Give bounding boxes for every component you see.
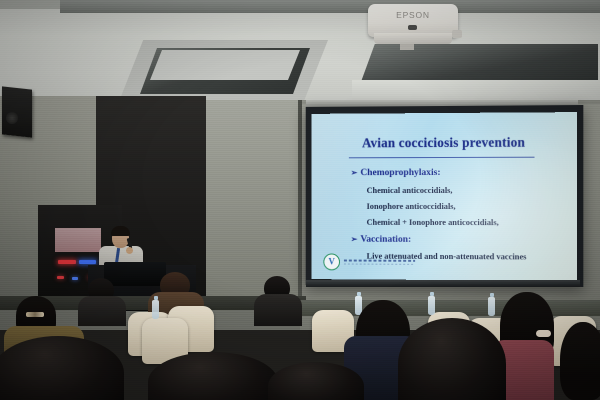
- slide-bullet-heading-2: ➢Vaccination:: [351, 233, 575, 245]
- bullet-arrow-icon: ➢: [351, 168, 358, 177]
- speaker-cone-icon: [6, 112, 18, 124]
- audience-torso: [78, 296, 126, 326]
- projector-mount: [400, 44, 414, 50]
- wall-column-edge: [298, 100, 302, 310]
- foreground-head: [148, 352, 278, 400]
- slide-title-rule: [349, 157, 535, 159]
- foreground-head: [0, 336, 124, 400]
- ceiling-coffer-left-lip: [150, 50, 300, 80]
- bullet-arrow-icon-2: ➢: [351, 234, 358, 243]
- wall-speaker: [2, 86, 32, 137]
- presenter-hand: [126, 247, 133, 254]
- audience-hair-long: [560, 322, 600, 400]
- wall-column: [206, 100, 302, 310]
- slide-bullet-heading-1: ➢Chemoprophylaxis:: [351, 167, 575, 178]
- slide-bullet-heading-2-text: Vaccination:: [360, 233, 411, 244]
- water-bottle[interactable]: [152, 300, 159, 319]
- projector-lens-icon: [408, 25, 417, 30]
- led-indicator-red: [58, 260, 76, 264]
- slide-subitem-1-3: Chemical + Ionophore anticoccidials,: [367, 217, 576, 226]
- slide-subitem-1-2: Ionophore anticoccidials,: [367, 201, 576, 210]
- logo-wordmark: [344, 259, 415, 265]
- water-bottle[interactable]: [488, 297, 495, 316]
- projection-screen: Avian cocciciosis prevention ➢Chemoproph…: [312, 112, 578, 281]
- foreground-head: [398, 318, 506, 400]
- led-indicator-small-red: [57, 276, 64, 279]
- slide-subitem-1-1: Chemical anticoccidials,: [367, 185, 576, 194]
- logo-wordmark-line-1: [344, 259, 415, 262]
- hair-bow-accessory: [536, 330, 551, 337]
- logo-mark-letter: V: [328, 257, 334, 266]
- water-bottle[interactable]: [428, 296, 435, 315]
- audience-torso: [254, 294, 302, 326]
- podium-monitor: [104, 262, 166, 286]
- lecture-room-photo: EPSON Avian cocciciosis prevention ➢Chem…: [0, 0, 600, 400]
- led-indicator-small-blue: [72, 277, 78, 280]
- ceiling-coffer-right-lip: [352, 80, 600, 102]
- logo-wordmark-line-2: [344, 263, 415, 265]
- rack-panel: [55, 228, 101, 252]
- presenter-hair: [111, 226, 130, 236]
- projector-brand-label: EPSON: [368, 10, 458, 20]
- institute-logo-icon: V: [323, 253, 340, 270]
- slide-footer-logo: V: [323, 253, 415, 270]
- projector-arm: [452, 30, 462, 38]
- ceiling-beam: [60, 0, 600, 13]
- projector-body: [374, 33, 452, 44]
- hair-clip-accessory: [26, 312, 44, 317]
- screen-bottom-edge: [306, 280, 580, 287]
- slide-bullet-heading-1-text: Chemoprophylaxis:: [360, 167, 440, 178]
- led-indicator-blue: [79, 260, 96, 264]
- slide-title: Avian cocciciosis prevention: [312, 134, 578, 151]
